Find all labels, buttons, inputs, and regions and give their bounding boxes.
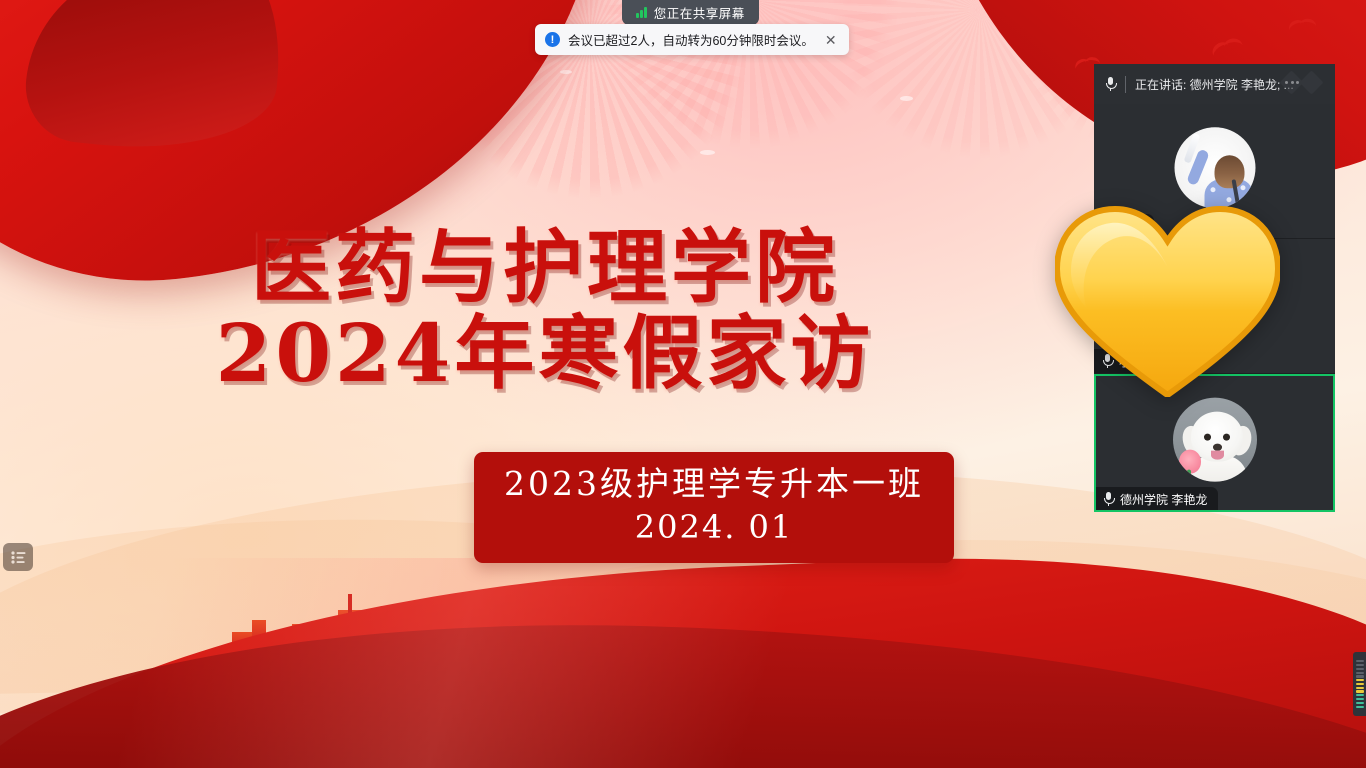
speaking-header-bar: 正在讲话: 德州学院 李艳龙; ...	[1094, 64, 1335, 104]
screen-share-indicator[interactable]: 您正在共享屏幕	[622, 0, 759, 25]
screen-share-label: 您正在共享屏幕	[654, 3, 745, 22]
close-icon[interactable]: ✕	[822, 31, 840, 49]
chevron-collapse-icon[interactable]	[1283, 74, 1329, 96]
list-menu-button[interactable]	[3, 543, 33, 571]
participant-name: 德州学院 李艳龙	[1120, 491, 1207, 508]
bird-icon	[1288, 17, 1318, 35]
slide-title: 医药与护理学院 2024年寒假家访	[0, 224, 1090, 397]
audio-level-meter[interactable]	[1353, 652, 1366, 716]
microphone-icon	[1105, 77, 1116, 91]
meeting-limit-notice: ! 会议已超过2人，自动转为60分钟限时会议。 ✕	[535, 24, 849, 55]
list-menu-icon	[11, 551, 26, 564]
person-blue-coat-avatar	[1174, 127, 1255, 208]
notice-text: 会议已超过2人，自动转为60分钟限时会议。	[568, 30, 814, 49]
decorative-speck	[700, 150, 715, 155]
microphone-icon	[1103, 492, 1114, 506]
active-speaker-label: 正在讲话: 德州学院 李艳龙; ...	[1135, 76, 1294, 93]
signal-bars-icon	[636, 7, 647, 18]
slide-subtitle-line-1: 2023级护理学专升本一班	[474, 462, 954, 506]
slide-subtitle-date: 2024. 01	[474, 506, 954, 549]
ribbon-fold	[20, 0, 288, 163]
participant-name-tag: 德州学院 李艳龙	[1095, 487, 1218, 511]
header-divider	[1125, 76, 1126, 93]
slide-title-line-2: 2024年寒假家访	[0, 310, 1090, 396]
decorative-speck	[900, 96, 913, 101]
screen-share-stage: 医药与护理学院 2024年寒假家访 2023级护理学专升本一班 2024. 01…	[0, 0, 1366, 768]
decorative-speck	[560, 70, 572, 74]
info-icon: !	[545, 32, 560, 47]
yellow-heart-emoji	[1055, 205, 1280, 397]
slide-title-line-1: 医药与护理学院	[0, 224, 1090, 310]
slide-subtitle-box: 2023级护理学专升本一班 2024. 01	[474, 452, 954, 563]
white-dog-flower-avatar	[1173, 398, 1257, 482]
